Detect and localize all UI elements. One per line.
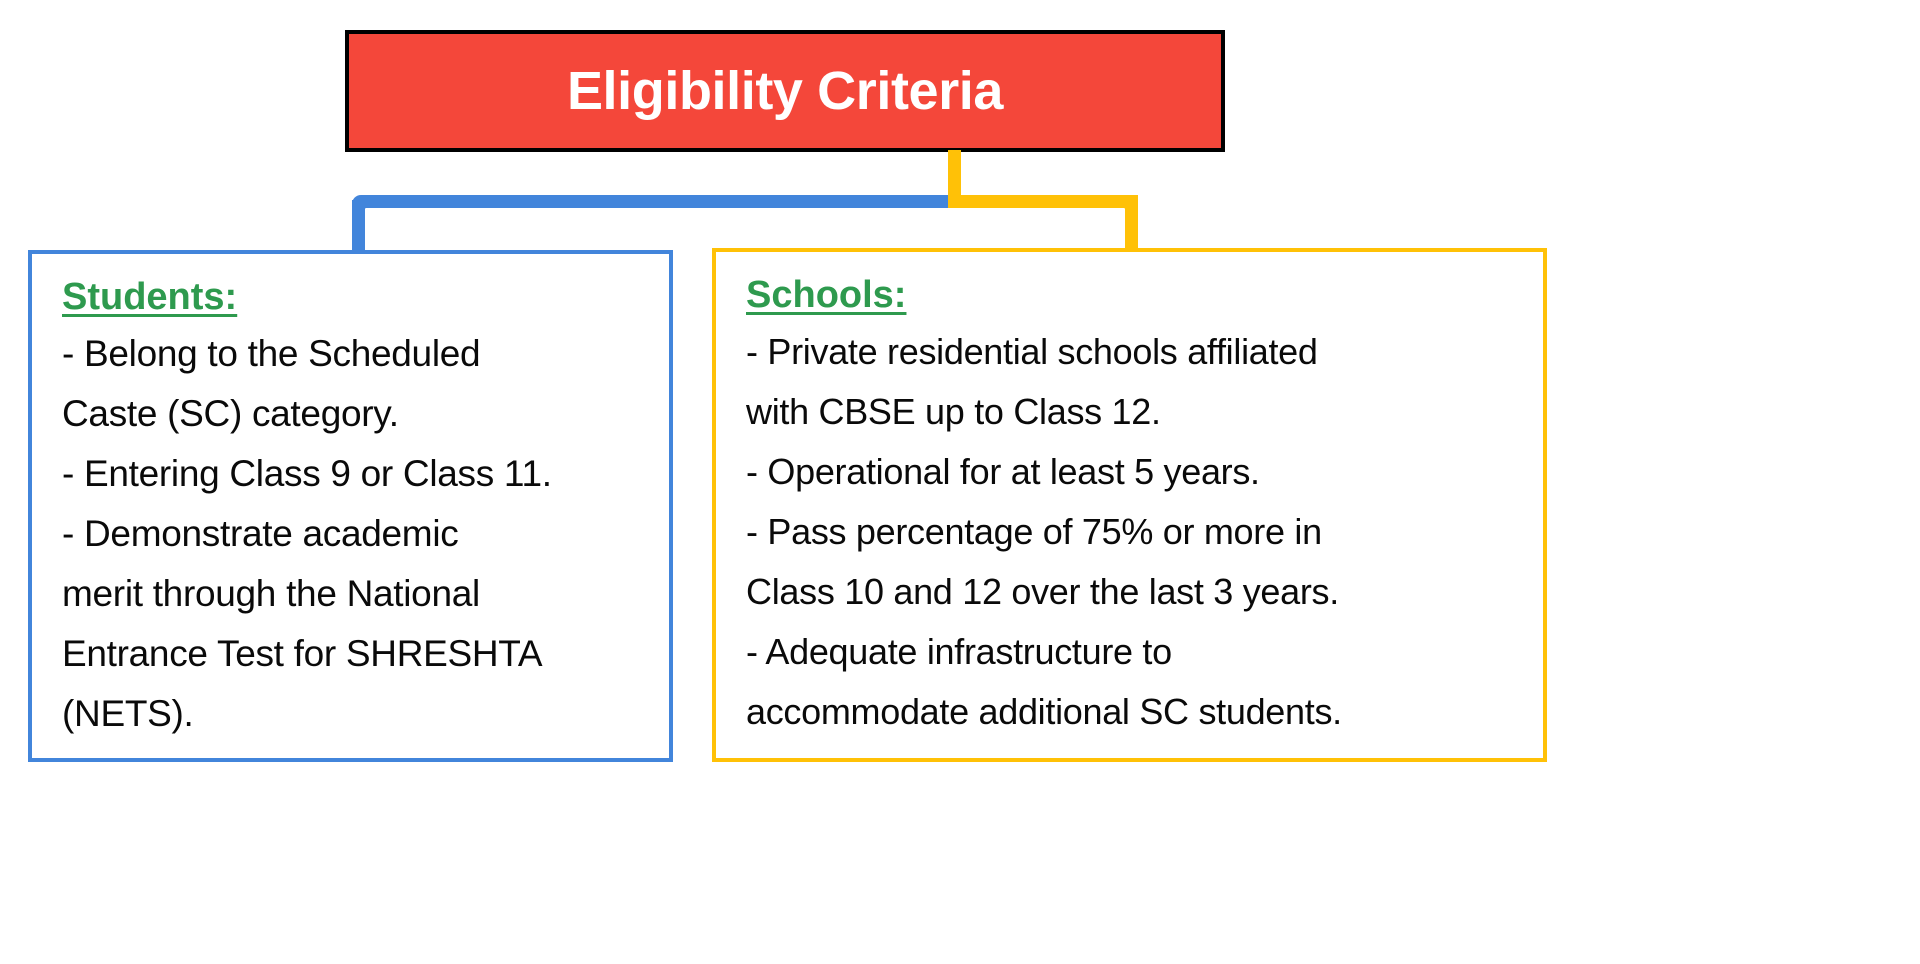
bullet-line: Entrance Test for SHRESHTA — [62, 624, 643, 684]
bullet-line: - Pass percentage of 75% or more in — [746, 502, 1517, 562]
schools-body: - Private residential schools affiliated… — [746, 322, 1517, 742]
schools-box: Schools: - Private residential schools a… — [712, 248, 1547, 762]
diagram-canvas: Eligibility Criteria Students: - Belong … — [0, 0, 1920, 964]
bullet-line: - Operational for at least 5 years. — [746, 442, 1517, 502]
page-title: Eligibility Criteria — [567, 64, 1003, 118]
bullet-line: - Demonstrate academic — [62, 504, 643, 564]
connector-left-horizontal — [352, 195, 956, 208]
bullet-line: Class 10 and 12 over the last 3 years. — [746, 562, 1517, 622]
schools-heading: Schools: — [746, 274, 906, 318]
connector-right-horizontal — [948, 195, 1138, 208]
bullet-line: with CBSE up to Class 12. — [746, 382, 1517, 442]
bullet-line: Caste (SC) category. — [62, 384, 643, 444]
students-box: Students: - Belong to the ScheduledCaste… — [28, 250, 673, 762]
connector-left-elbow — [352, 195, 378, 221]
bullet-line: - Belong to the Scheduled — [62, 324, 643, 384]
students-heading: Students: — [62, 276, 237, 320]
bullet-line: (NETS). — [62, 684, 643, 744]
students-body: - Belong to the ScheduledCaste (SC) cate… — [62, 324, 643, 744]
bullet-line: - Adequate infrastructure to — [746, 622, 1517, 682]
bullet-line: accommodate additional SC students. — [746, 682, 1517, 742]
bullet-line: - Entering Class 9 or Class 11. — [62, 444, 643, 504]
header-box: Eligibility Criteria — [345, 30, 1225, 152]
bullet-line: merit through the National — [62, 564, 643, 624]
bullet-line: - Private residential schools affiliated — [746, 322, 1517, 382]
connector-right-elbow — [1112, 195, 1138, 221]
